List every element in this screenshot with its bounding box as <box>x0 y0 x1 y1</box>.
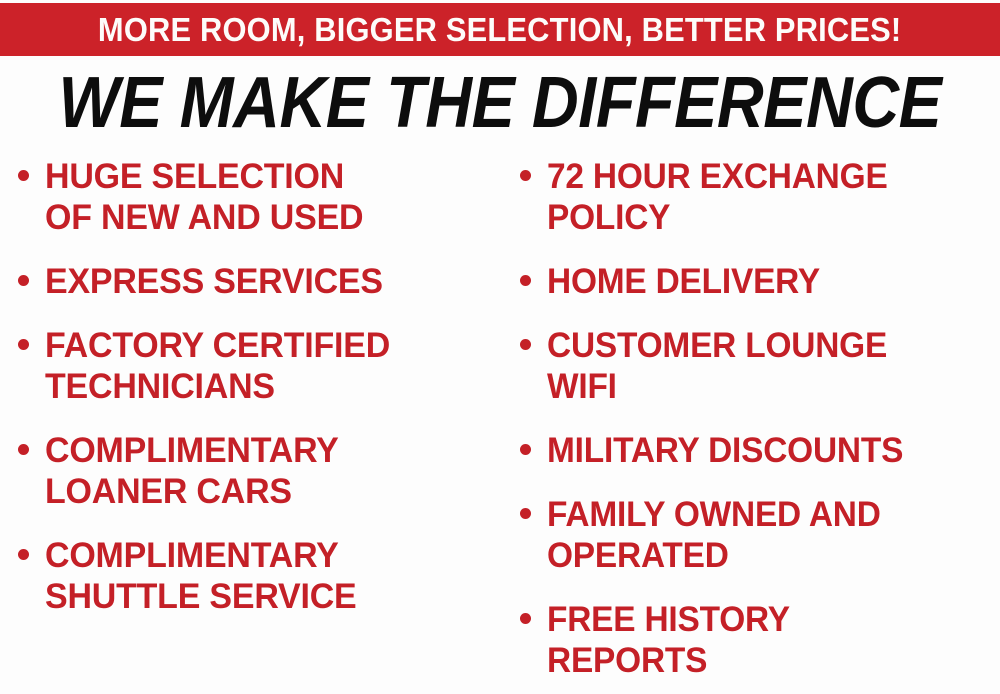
bullet-dot-icon <box>18 549 29 560</box>
list-item-label: 72 HOUR EXCHANGE POLICY <box>547 156 978 238</box>
list-item-label: HOME DELIVERY <box>547 261 978 302</box>
list-item-label: HUGE SELECTION OF NEW AND USED <box>45 156 482 238</box>
list-item: FREE HISTORY REPORTS <box>520 599 998 681</box>
benefits-column-right: 72 HOUR EXCHANGE POLICY HOME DELIVERY CU… <box>520 156 998 694</box>
bullet-dot-icon <box>18 275 29 286</box>
list-item: FAMILY OWNED AND OPERATED <box>520 494 998 576</box>
list-item-label: FACTORY CERTIFIED TECHNICIANS <box>45 325 482 407</box>
list-item: MILITARY DISCOUNTS <box>520 430 998 471</box>
list-item: FACTORY CERTIFIED TECHNICIANS <box>18 325 496 407</box>
list-item-label: COMPLIMENTARY SHUTTLE SERVICE <box>45 535 482 617</box>
list-item: COMPLIMENTARY LOANER CARS <box>18 430 496 512</box>
list-item: HOME DELIVERY <box>520 261 998 302</box>
bullet-dot-icon <box>520 508 531 519</box>
benefits-column-left: HUGE SELECTION OF NEW AND USED EXPRESS S… <box>18 156 496 640</box>
bullet-dot-icon <box>520 444 531 455</box>
list-item-label: COMPLIMENTARY LOANER CARS <box>45 430 482 512</box>
bullet-dot-icon <box>520 170 531 181</box>
list-item: COMPLIMENTARY SHUTTLE SERVICE <box>18 535 496 617</box>
bullet-dot-icon <box>18 339 29 350</box>
list-item: EXPRESS SERVICES <box>18 261 496 302</box>
list-item: HUGE SELECTION OF NEW AND USED <box>18 156 496 238</box>
benefits-columns: HUGE SELECTION OF NEW AND USED EXPRESS S… <box>0 156 1000 694</box>
banner-headline: MORE ROOM, BIGGER SELECTION, BETTER PRIC… <box>98 13 901 46</box>
list-item-label: CUSTOMER LOUNGE WIFI <box>547 325 978 407</box>
list-item: CUSTOMER LOUNGE WIFI <box>520 325 998 407</box>
list-item-label: MILITARY DISCOUNTS <box>547 430 978 471</box>
bullet-dot-icon <box>520 339 531 350</box>
list-item-label: FREE HISTORY REPORTS <box>547 599 978 681</box>
top-banner: MORE ROOM, BIGGER SELECTION, BETTER PRIC… <box>0 3 1000 56</box>
bullet-dot-icon <box>520 613 531 624</box>
list-item-label: FAMILY OWNED AND OPERATED <box>547 494 978 576</box>
bullet-dot-icon <box>520 275 531 286</box>
promo-poster: MORE ROOM, BIGGER SELECTION, BETTER PRIC… <box>0 0 1000 694</box>
page-title: WE MAKE THE DIFFERENCE <box>50 66 950 140</box>
bullet-dot-icon <box>18 170 29 181</box>
bullet-dot-icon <box>18 444 29 455</box>
list-item: 72 HOUR EXCHANGE POLICY <box>520 156 998 238</box>
list-item-label: EXPRESS SERVICES <box>45 261 482 302</box>
